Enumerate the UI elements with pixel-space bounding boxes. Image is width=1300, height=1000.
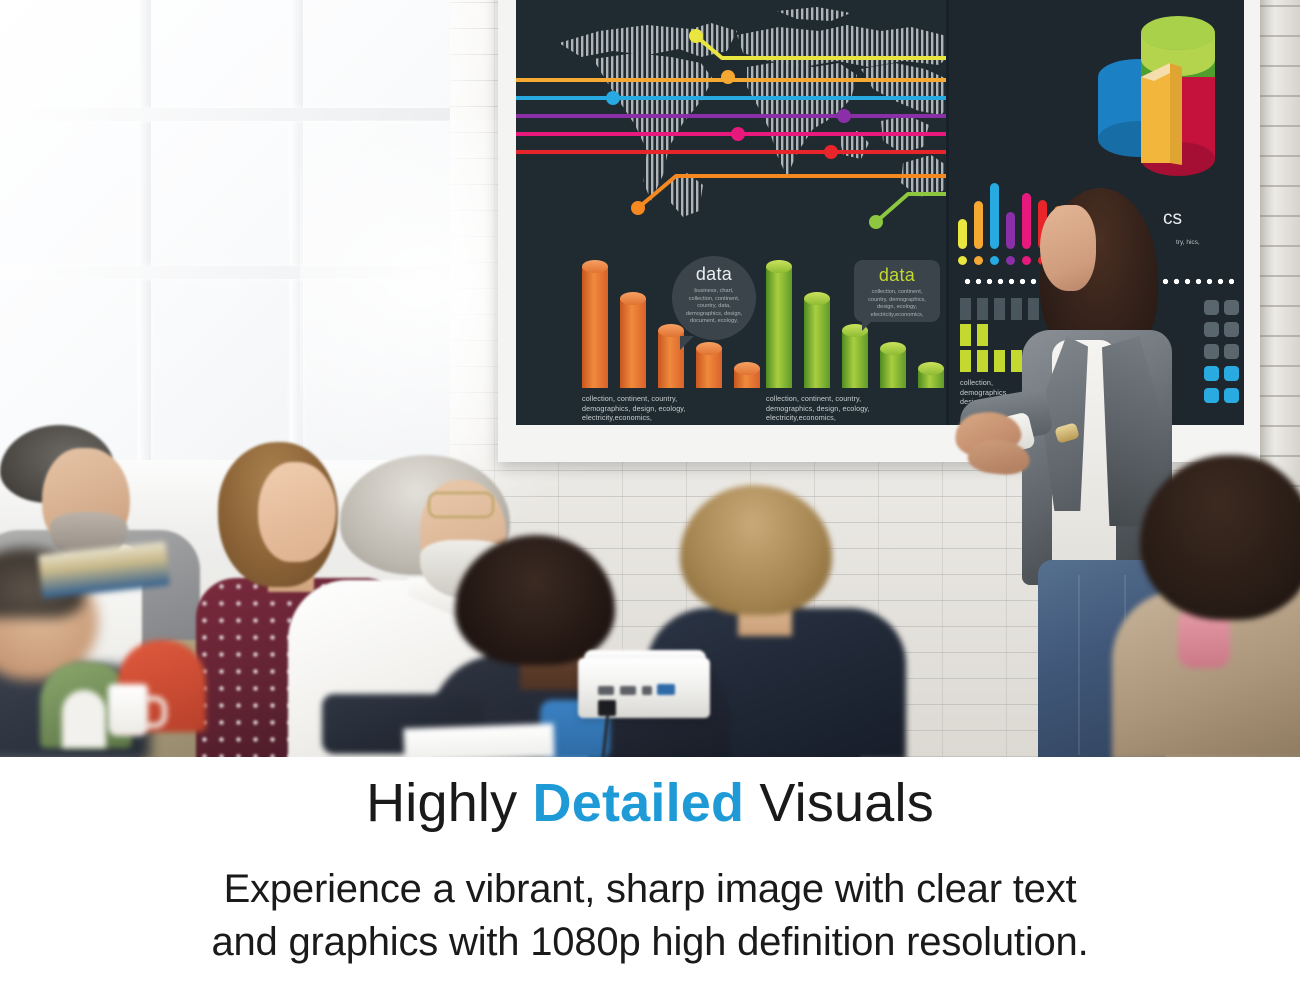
caption-block: Highly Detailed Visuals Experience a vib…	[0, 757, 1300, 1000]
bubble-text: business, chart, collection, continent, …	[672, 285, 756, 326]
panel-section-sub: try, hics,	[1176, 238, 1244, 247]
headline-accent: Detailed	[533, 773, 745, 833]
mini-bar	[1022, 193, 1031, 249]
data-bubble-orange: data business, chart, collection, contin…	[672, 256, 756, 340]
subheadline-line-1: Experience a vibrant, sharp image with c…	[0, 867, 1300, 912]
jeans-seam	[1078, 575, 1080, 755]
coffee-mug-handle	[144, 696, 167, 728]
bubble-text: collection, continent, country, demograp…	[854, 286, 940, 319]
headline-post: Visuals	[744, 773, 934, 833]
coffee-mug	[108, 684, 148, 736]
chair-backrest-gap	[62, 690, 106, 748]
headline: Highly Detailed Visuals	[0, 772, 1300, 834]
headline-pre: Highly	[366, 773, 532, 833]
panel-section-heading: cs	[1163, 208, 1182, 230]
mini-bar	[974, 201, 983, 249]
bubble-title: data	[672, 256, 756, 285]
mini-bar	[1006, 212, 1015, 249]
orange-chart-caption: collection, continent, country, demograp…	[582, 394, 702, 423]
green-chart-caption: collection, continent, country, demograp…	[766, 394, 886, 423]
presenter-face	[1040, 205, 1096, 291]
subheadline-line-2: and graphics with 1080p high definition …	[0, 920, 1300, 965]
window-wall	[0, 0, 450, 460]
mini-bar	[958, 219, 967, 249]
pie-3d-chart	[1096, 15, 1221, 180]
mini-bar	[990, 183, 999, 249]
bubble-title: data	[854, 260, 940, 286]
photo-presentation-room: GL EU US CH AF SA AR AU Raw data	[0, 0, 1300, 757]
data-bubble-green: data collection, continent, country, dem…	[854, 260, 940, 322]
eyeglasses	[428, 492, 494, 518]
paper-documents	[403, 723, 554, 757]
marketing-feature-card: GL EU US CH AF SA AR AU Raw data	[0, 0, 1300, 1000]
